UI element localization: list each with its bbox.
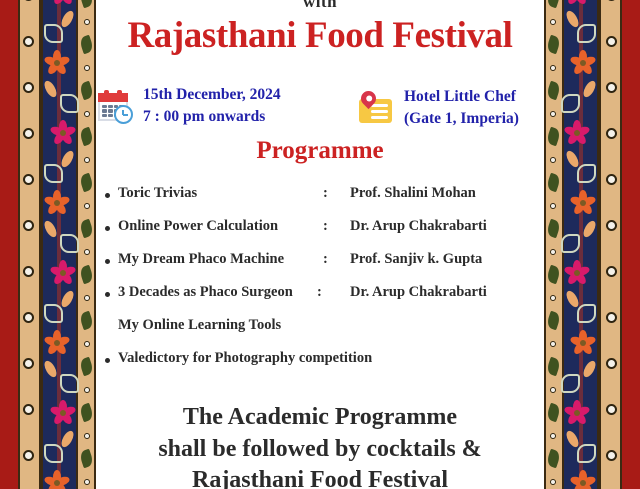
programme-colon: : [317, 284, 322, 301]
border-leaf [546, 357, 562, 377]
border-dot [606, 312, 617, 323]
programme-row: Valedictory for Photography competition [102, 350, 544, 383]
border-leaf-dot [84, 433, 90, 439]
border-dot [606, 36, 617, 47]
programme-speaker: Dr. Arup Chakrabarti [350, 284, 487, 301]
border-band-outer-red [622, 0, 640, 489]
border-leaf-dot [84, 387, 90, 393]
border-leaf-column [78, 0, 96, 489]
border-flower [570, 470, 596, 489]
border-dot [606, 220, 617, 231]
border-flower [44, 470, 70, 489]
closing-line3: Rajasthani Food Festival [96, 465, 544, 489]
border-floral-column [562, 0, 599, 489]
border-flower [50, 400, 76, 426]
border-leaf [546, 219, 562, 239]
rajasthani-food-festival-poster: with Rajasthani Food Festival 1 [0, 0, 640, 489]
border-leaf-dot [84, 295, 90, 301]
border-floral-column [41, 0, 78, 489]
programme-topic: My Dream Phaco Machine [118, 251, 284, 268]
clock-icon [114, 105, 133, 124]
programme-topic: Valedictory for Photography competition [118, 350, 372, 367]
decorative-border-right [544, 0, 640, 489]
border-leaf [546, 127, 562, 147]
border-leaf-dot [550, 111, 556, 117]
border-leaf-dot [550, 387, 556, 393]
border-leaf-dot [550, 433, 556, 439]
event-time-line2: 7 : 00 pm onwards [143, 106, 281, 128]
programme-speaker: Dr. Arup Chakrabarti [350, 218, 487, 235]
border-flower [50, 120, 76, 146]
border-dot-column [18, 0, 41, 489]
bullet-icon [105, 193, 110, 198]
border-leaf-dot [84, 157, 90, 163]
border-paisley-glyph [44, 304, 63, 323]
programme-row: Online Power Calculation : Dr. Arup Chak… [102, 218, 544, 251]
border-leaf-dot [550, 295, 556, 301]
decorative-border-left [0, 0, 96, 489]
border-dot [23, 174, 34, 185]
programme-continuation-row: My Online Learning Tools [102, 317, 544, 350]
border-leaf [546, 265, 562, 285]
event-date-line1: 15th December, 2024 [143, 84, 281, 106]
bullet-icon [105, 259, 110, 264]
border-dot-column [599, 0, 622, 489]
border-dot [606, 174, 617, 185]
border-flower [564, 260, 590, 286]
programme-topic: 3 Decades as Phaco Surgeon [118, 284, 293, 301]
border-flower [570, 50, 596, 76]
border-flower [50, 0, 76, 6]
border-leaf-dot [84, 111, 90, 117]
border-leaf [546, 173, 562, 193]
bullet-icon [105, 358, 110, 363]
border-flower [570, 330, 596, 356]
border-bud [59, 289, 76, 309]
border-leaf-dot [84, 65, 90, 71]
event-date-block: 15th December, 2024 7 : 00 pm onwards [98, 84, 281, 129]
border-bud [581, 79, 598, 99]
border-leaf [79, 35, 95, 55]
venue-gate: (Gate 1, Imperia) [404, 108, 519, 130]
border-flower [44, 190, 70, 216]
border-flower [564, 0, 590, 6]
border-bud [59, 149, 76, 169]
programme-speaker: Prof. Sanjiv k. Gupta [350, 251, 482, 268]
programme-row: Toric Trivias : Prof. Shalini Mohan [102, 185, 544, 218]
border-leaf [546, 403, 562, 423]
border-dot [23, 82, 34, 93]
border-dot [606, 82, 617, 93]
programme-row: My Dream Phaco Machine : Prof. Sanjiv k.… [102, 251, 544, 284]
page-title: Rajasthani Food Festival [96, 14, 544, 57]
border-leaf [79, 173, 95, 193]
programme-continuation: My Online Learning Tools [118, 317, 281, 334]
border-flower [570, 190, 596, 216]
border-dot [606, 450, 617, 461]
border-leaf-column [544, 0, 562, 489]
border-leaf [79, 81, 95, 101]
border-leaf [546, 81, 562, 101]
border-leaf-dot [84, 203, 90, 209]
programme-topic: Online Power Calculation [118, 218, 278, 235]
closing-line2: shall be followed by cocktails & [96, 434, 544, 466]
border-leaf [79, 311, 95, 331]
border-leaf-dot [550, 65, 556, 71]
border-dot [23, 358, 34, 369]
programme-colon: : [323, 185, 328, 202]
programme-colon: : [323, 218, 328, 235]
border-bud [59, 429, 76, 449]
border-flower [44, 50, 70, 76]
border-paisley-glyph [44, 24, 63, 43]
border-paisley-glyph [60, 94, 79, 113]
border-leaf [79, 127, 95, 147]
poster-content: with Rajasthani Food Festival 1 [96, 0, 544, 489]
border-leaf-dot [550, 19, 556, 25]
border-leaf [546, 35, 562, 55]
pre-title: with [96, 0, 544, 12]
border-dot [23, 266, 34, 277]
border-leaf-dot [550, 203, 556, 209]
programme-colon: : [323, 251, 328, 268]
border-paisley-glyph [44, 164, 63, 183]
border-dot [23, 312, 34, 323]
border-leaf-dot [550, 249, 556, 255]
border-bud [59, 9, 76, 29]
closing-note: The Academic Programme shall be followed… [96, 402, 544, 489]
border-paisley-glyph [60, 234, 79, 253]
programme-list: Toric Trivias : Prof. Shalini Mohan Onli… [102, 185, 544, 383]
border-dot [606, 266, 617, 277]
border-leaf [546, 311, 562, 331]
border-band-outer-red [0, 0, 18, 489]
programme-heading: Programme [96, 137, 544, 165]
border-paisley-glyph [577, 304, 596, 323]
border-leaf [79, 449, 95, 469]
border-leaf [546, 449, 562, 469]
border-paisley-glyph [577, 444, 596, 463]
border-bud [581, 219, 598, 239]
border-leaf-dot [550, 157, 556, 163]
border-dot [23, 404, 34, 415]
border-leaf-dot [550, 341, 556, 347]
border-paisley-glyph [44, 444, 63, 463]
border-dot [606, 404, 617, 415]
border-leaf [79, 0, 95, 8]
border-paisley-glyph [577, 24, 596, 43]
event-venue-text: Hotel Little Chef (Gate 1, Imperia) [404, 86, 519, 131]
border-dot [23, 36, 34, 47]
border-paisley-glyph [561, 374, 580, 393]
location-card-icon [358, 91, 394, 125]
programme-row: 3 Decades as Phaco Surgeon : Dr. Arup Ch… [102, 284, 544, 317]
venue-name: Hotel Little Chef [404, 86, 519, 108]
calendar-header [98, 93, 128, 102]
border-leaf-dot [84, 479, 90, 485]
border-dot [606, 0, 617, 1]
event-info-row: 15th December, 2024 7 : 00 pm onwards Ho… [96, 84, 544, 134]
border-leaf-dot [84, 19, 90, 25]
border-paisley-glyph [60, 374, 79, 393]
border-leaf [79, 403, 95, 423]
event-date-text: 15th December, 2024 7 : 00 pm onwards [143, 84, 281, 129]
programme-speaker: Prof. Shalini Mohan [350, 185, 476, 202]
border-dot [23, 128, 34, 139]
border-bud [581, 359, 598, 379]
border-leaf-dot [84, 249, 90, 255]
border-dot [23, 0, 34, 1]
border-leaf-dot [550, 479, 556, 485]
event-venue-block: Hotel Little Chef (Gate 1, Imperia) [358, 86, 519, 131]
border-dot [23, 220, 34, 231]
border-leaf-dot [84, 341, 90, 347]
border-leaf [79, 265, 95, 285]
border-leaf [546, 0, 562, 8]
calendar-clock-icon [98, 90, 132, 123]
border-paisley-glyph [561, 94, 580, 113]
border-flower [564, 400, 590, 426]
border-dot [606, 128, 617, 139]
bullet-icon [105, 226, 110, 231]
border-flower [50, 260, 76, 286]
border-leaf [79, 357, 95, 377]
closing-line1: The Academic Programme [96, 402, 544, 434]
border-paisley-glyph [561, 234, 580, 253]
programme-topic: Toric Trivias [118, 185, 197, 202]
border-dot [23, 450, 34, 461]
border-flower [44, 330, 70, 356]
bullet-icon [105, 292, 110, 297]
border-leaf [79, 219, 95, 239]
border-flower [564, 120, 590, 146]
border-dot [606, 358, 617, 369]
border-paisley-glyph [577, 164, 596, 183]
